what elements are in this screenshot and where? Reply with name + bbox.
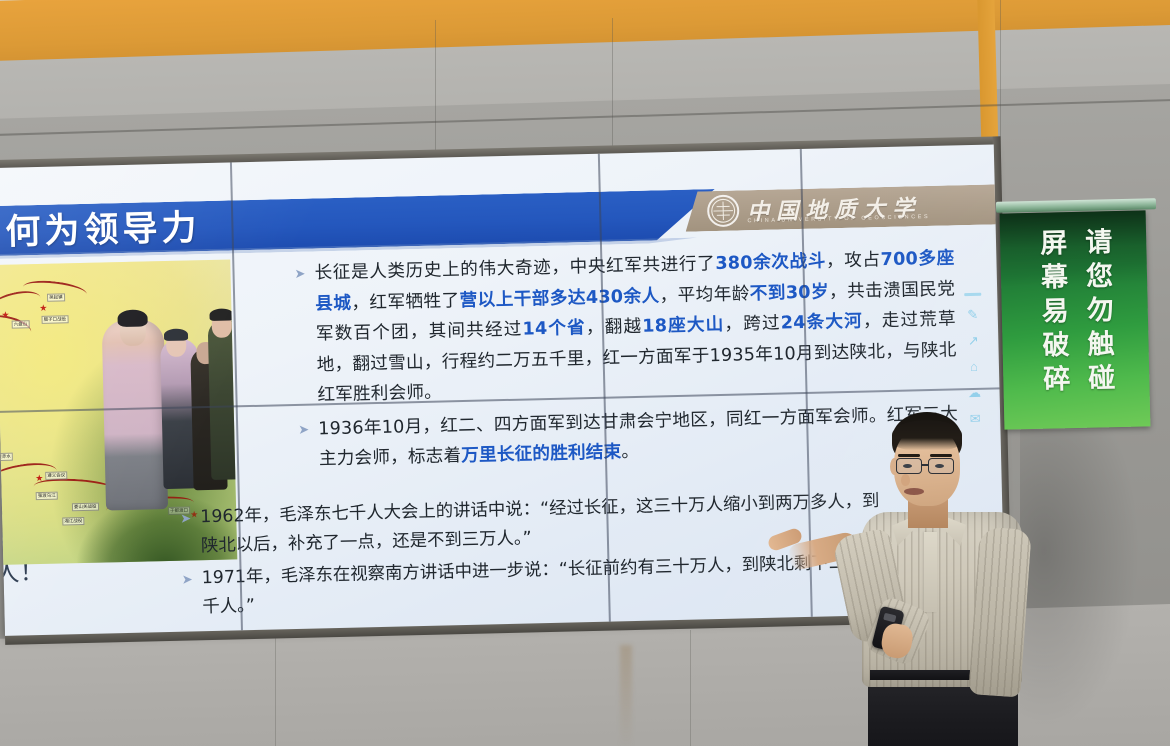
- plain-text: ，跨过: [724, 314, 781, 335]
- highlight-text: 营以上干部多达430余人: [459, 286, 659, 311]
- bullet-marker-icon: ➤: [181, 564, 202, 594]
- presenter-mouth: [904, 488, 924, 495]
- plain-text: ，攻占: [826, 250, 881, 271]
- home-icon[interactable]: ⌂: [965, 359, 982, 374]
- bullet-item: ➤ 长征是人类历史上的伟大奇迹，中央红军共进行了380余次战斗，攻占700多座县…: [294, 243, 957, 411]
- figure-soldier: [208, 319, 238, 480]
- warning-sign-text-left: 屏幕易破碎: [1035, 228, 1071, 429]
- presenter-glasses-right-lens: [928, 458, 954, 474]
- bullet-marker-icon: ➤: [294, 258, 315, 288]
- slide-body-lower: ➤ 1962年，毛泽东七千人大会上的讲话中说：“经过长征，这三十万人缩小到两万多…: [180, 487, 883, 625]
- highlight-text: 18座大山: [642, 315, 725, 337]
- bullet-text: 1971年，毛泽东在视察南方讲话中进一步说：“长征前约有三十万人，到陕北剩下二万…: [201, 548, 882, 622]
- presenter-shirt-placket: [924, 532, 937, 612]
- bullet-text: 长征是人类历史上的伟大奇迹，中央红军共进行了380余次战斗，攻占700多座县城，…: [314, 243, 957, 411]
- presenter-glasses-left-lens: [896, 458, 922, 474]
- map-label: 六盘山: [12, 320, 30, 328]
- presenter-glasses-bridge: [922, 464, 929, 466]
- highlight-text: 24条大河: [781, 312, 864, 334]
- highlight-text: 14个省: [522, 318, 586, 339]
- bullet-marker-icon: ➤: [298, 414, 319, 444]
- plain-text: ，翻越: [586, 317, 643, 338]
- map-star: ★: [39, 304, 47, 313]
- presenter-nose: [901, 474, 910, 486]
- presenter-eyebrow: [898, 454, 920, 457]
- presenter-hair-front: [892, 420, 962, 450]
- map-star: ★: [1, 311, 9, 320]
- lecture-hall-scene: 余次战斗 多座县城 余人！ 何为领导力 中国地质大学 CHINA UNIVERS…: [0, 0, 1170, 746]
- bullet-item: ➤ 1971年，毛泽东在视察南方讲话中进一步说：“长征前约有三十万人，到陕北剩下…: [181, 548, 882, 622]
- map-label: 遵义会议: [45, 471, 67, 480]
- remote-button: [883, 613, 896, 623]
- highlight-text: 万里长征的胜利结束: [461, 442, 622, 466]
- map-label: 强渡乌江: [36, 492, 58, 501]
- figure-soldier-hat: [209, 308, 233, 321]
- figure-soldier-hat: [164, 328, 188, 341]
- warning-sign-text-right: 请您勿触碰: [1080, 227, 1116, 428]
- map-label: 四渡赤水: [0, 453, 13, 462]
- plain-text: ，平均年龄: [659, 284, 750, 306]
- highlight-text: 380余次战斗: [715, 251, 826, 274]
- plain-text: 。: [621, 442, 639, 462]
- menu-bar-icon[interactable]: [964, 293, 981, 296]
- university-emblem-icon: [707, 194, 740, 227]
- highlight-text: 不到30岁: [750, 282, 830, 304]
- plain-text: 长征是人类历史上的伟大奇迹，中央红军共进行了: [314, 254, 715, 283]
- presenter: [846, 412, 1056, 746]
- presenter-eyebrow: [930, 454, 952, 457]
- figure-leader-hair: [117, 309, 147, 327]
- slide-side-toolbar[interactable]: ✎ ↗ ⌂ ☁ ✉: [959, 293, 988, 427]
- wall-seam: [690, 630, 691, 746]
- map-label: 腊子口战役: [41, 315, 68, 324]
- share-icon[interactable]: ↗: [965, 333, 982, 348]
- plain-text: ，红军牺牲了: [351, 291, 460, 314]
- figure-leader: [102, 319, 168, 510]
- wall-seam: [435, 20, 436, 170]
- wall-stain: [620, 645, 632, 746]
- warning-sign: 屏幕易破碎 请您勿触碰: [1000, 210, 1151, 429]
- edit-icon[interactable]: ✎: [964, 307, 981, 322]
- map-star: ★: [35, 474, 43, 483]
- presenter-right-arm: [968, 526, 1032, 697]
- bullet-marker-icon: ➤: [180, 503, 201, 533]
- wall-seam: [275, 630, 276, 746]
- map-label: 吴起镇: [47, 293, 65, 301]
